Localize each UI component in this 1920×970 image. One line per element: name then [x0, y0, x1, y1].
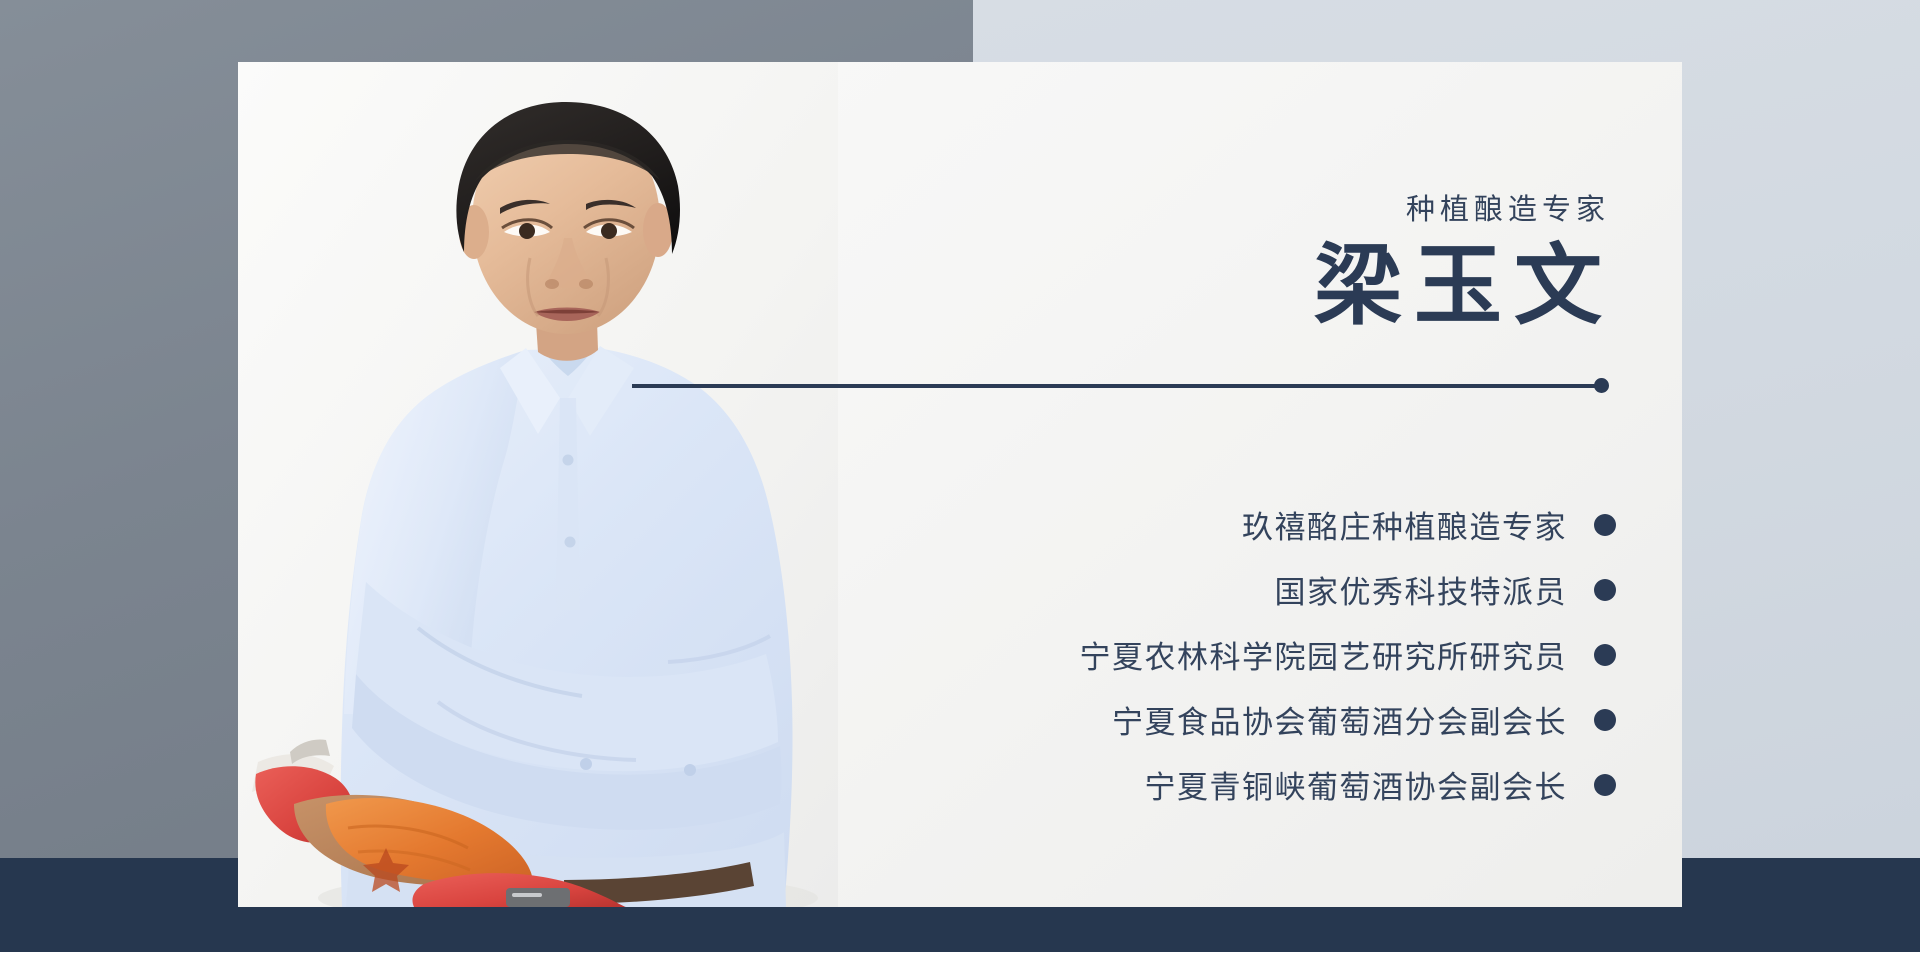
- credential-label: 宁夏农林科学院园艺研究所研究员: [1080, 632, 1568, 677]
- dot-icon: [1594, 579, 1616, 601]
- profile-card: 种植酿造专家 梁玉文 玖禧酩庄种植酿造专家 国家优秀科技特派员 宁夏农林科学院园…: [238, 62, 1682, 907]
- profile-banner: 种植酿造专家 梁玉文 玖禧酩庄种植酿造专家 国家优秀科技特派员 宁夏农林科学院园…: [0, 0, 1920, 970]
- background-strip-bottom: [0, 952, 1920, 970]
- person-name: 梁玉文: [1314, 244, 1614, 332]
- list-item: 宁夏食品协会葡萄酒分会副会长: [716, 687, 1616, 752]
- credential-label: 宁夏青铜峡葡萄酒协会副会长: [1145, 762, 1568, 807]
- divider-end-dot-icon: [1594, 378, 1609, 393]
- list-item: 宁夏农林科学院园艺研究所研究员: [716, 622, 1616, 687]
- dot-icon: [1594, 514, 1616, 536]
- dot-icon: [1594, 709, 1616, 731]
- role-title: 种植酿造专家: [1406, 196, 1610, 225]
- dot-icon: [1594, 644, 1616, 666]
- list-item: 玖禧酩庄种植酿造专家: [716, 492, 1616, 557]
- credential-label: 宁夏食品协会葡萄酒分会副会长: [1112, 697, 1567, 742]
- credential-label: 国家优秀科技特派员: [1275, 567, 1568, 612]
- divider-line: [632, 384, 1606, 388]
- list-item: 国家优秀科技特派员: [716, 557, 1616, 622]
- list-item: 宁夏青铜峡葡萄酒协会副会长: [716, 752, 1616, 817]
- credential-label: 玖禧酩庄种植酿造专家: [1242, 502, 1567, 547]
- dot-icon: [1594, 774, 1616, 796]
- credential-list: 玖禧酩庄种植酿造专家 国家优秀科技特派员 宁夏农林科学院园艺研究所研究员 宁夏食…: [716, 492, 1616, 817]
